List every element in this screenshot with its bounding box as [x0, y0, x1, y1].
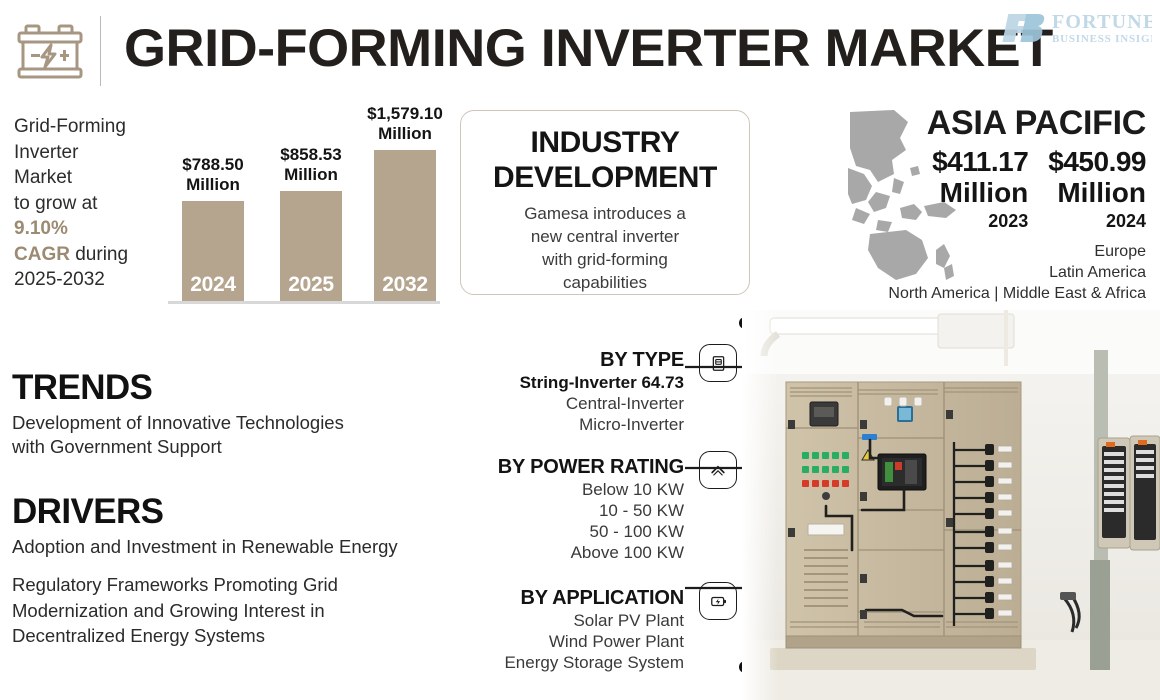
industry-development-title-line1: INDUSTRY	[461, 125, 749, 160]
bar-amount-2032: $1,579.10	[367, 104, 443, 123]
bar-year-2025: 2025	[280, 273, 342, 297]
drivers-body-line1: Adoption and Investment in Renewable Ene…	[12, 535, 462, 559]
logo-word-fortune: FORTUNE	[1052, 11, 1152, 33]
trends-heading: TRENDS	[12, 368, 452, 408]
drivers-section: DRIVERS Adoption and Investment in Renew…	[12, 492, 462, 649]
inverter-room-photo	[742, 310, 1160, 700]
other-region-europe: Europe	[826, 241, 1146, 262]
region-title: ASIA PACIFIC	[826, 104, 1146, 142]
other-regions-list: Europe Latin America North America | Mid…	[826, 241, 1146, 304]
region-year-2023: 2023	[932, 209, 1028, 233]
cagr-line-4: to grow at	[14, 191, 164, 217]
cagr-rate: 9.10%	[14, 216, 164, 242]
page-title: GRID-FORMING INVERTER MARKET	[124, 18, 1053, 80]
bar-column-2025: $858.53 Million 2025	[280, 191, 342, 301]
industry-development-card: INDUSTRY DEVELOPMENT Gamesa introduces a…	[460, 110, 750, 295]
region-figure-2023: $411.17 Million 2023	[932, 146, 1028, 233]
region-unit-2023: Million	[932, 177, 1028, 208]
industry-development-body-line4: capabilities	[461, 271, 749, 294]
drivers-body2-line3: Decentralized Energy Systems	[12, 623, 462, 649]
region-year-2024: 2024	[1048, 209, 1146, 233]
bar-unit-2032: Million	[378, 124, 432, 143]
market-size-bar-chart: $788.50 Million 2024 $858.53 Million 202…	[168, 106, 440, 304]
cagr-during: during	[70, 244, 128, 265]
region-amount-2023: $411.17	[932, 146, 1028, 177]
logo-word-business-insights: BUSINESS INSIGHTS	[1052, 33, 1152, 45]
drivers-body2-line1: Regulatory Frameworks Promoting Grid	[12, 572, 462, 598]
bar-amount-2025: $858.53	[280, 145, 341, 164]
industry-development-body-line1: Gamesa introduces a	[461, 202, 749, 225]
bar-year-2032: 2032	[374, 273, 436, 297]
cagr-period: 2025-2032	[14, 267, 164, 293]
trends-section: TRENDS Development of Innovative Technol…	[12, 368, 452, 459]
chart-baseline	[168, 301, 440, 304]
battery-bolt-icon	[14, 20, 86, 82]
bar-amount-2024: $788.50	[182, 155, 243, 174]
bar-column-2032: $1,579.10 Million 2032	[374, 150, 436, 301]
bar-unit-2024: Million	[186, 175, 240, 194]
cagr-word: CAGR	[14, 244, 70, 265]
page-header: GRID-FORMING INVERTER MARKET FORTUNE BUS…	[0, 0, 1160, 100]
cagr-line-3: Market	[14, 165, 164, 191]
drivers-heading: DRIVERS	[12, 492, 462, 532]
region-unit-2024: Million	[1048, 177, 1146, 208]
bar-2025: 2025	[280, 191, 342, 301]
fb-mark	[1002, 14, 1046, 42]
other-region-latin-america: Latin America	[826, 262, 1146, 283]
region-figure-2024: $450.99 Million 2024	[1048, 146, 1146, 233]
fortune-business-insights-logo: FORTUNE BUSINESS INSIGHTS	[1000, 6, 1152, 48]
bar-2024: 2024	[182, 201, 244, 301]
trends-body-line1: Development of Innovative Technologies	[12, 411, 452, 435]
cagr-line-1: Grid-Forming	[14, 114, 164, 140]
bar-year-2024: 2024	[182, 273, 244, 297]
trends-body-line2: with Government Support	[12, 435, 452, 459]
bar-column-2024: $788.50 Million 2024	[182, 201, 244, 301]
cagr-summary: Grid-Forming Inverter Market to grow at …	[14, 114, 164, 293]
cagr-line-2: Inverter	[14, 140, 164, 166]
header-divider	[100, 16, 101, 86]
other-region-north-america-mea: North America | Middle East & Africa	[826, 283, 1146, 304]
asia-pacific-block: ASIA PACIFIC $411.17 Million 2023 $450.9…	[826, 104, 1146, 304]
region-amount-2024: $450.99	[1048, 146, 1146, 177]
drivers-body2-line2: Modernization and Growing Interest in	[12, 598, 462, 624]
industry-development-body-line3: with grid-forming	[461, 248, 749, 271]
bar-unit-2025: Million	[284, 165, 338, 184]
bar-2032: 2032	[374, 150, 436, 301]
industry-development-title-line2: DEVELOPMENT	[461, 160, 749, 195]
infographic-root: GRID-FORMING INVERTER MARKET FORTUNE BUS…	[0, 0, 1160, 700]
industry-development-body-line2: new central inverter	[461, 225, 749, 248]
